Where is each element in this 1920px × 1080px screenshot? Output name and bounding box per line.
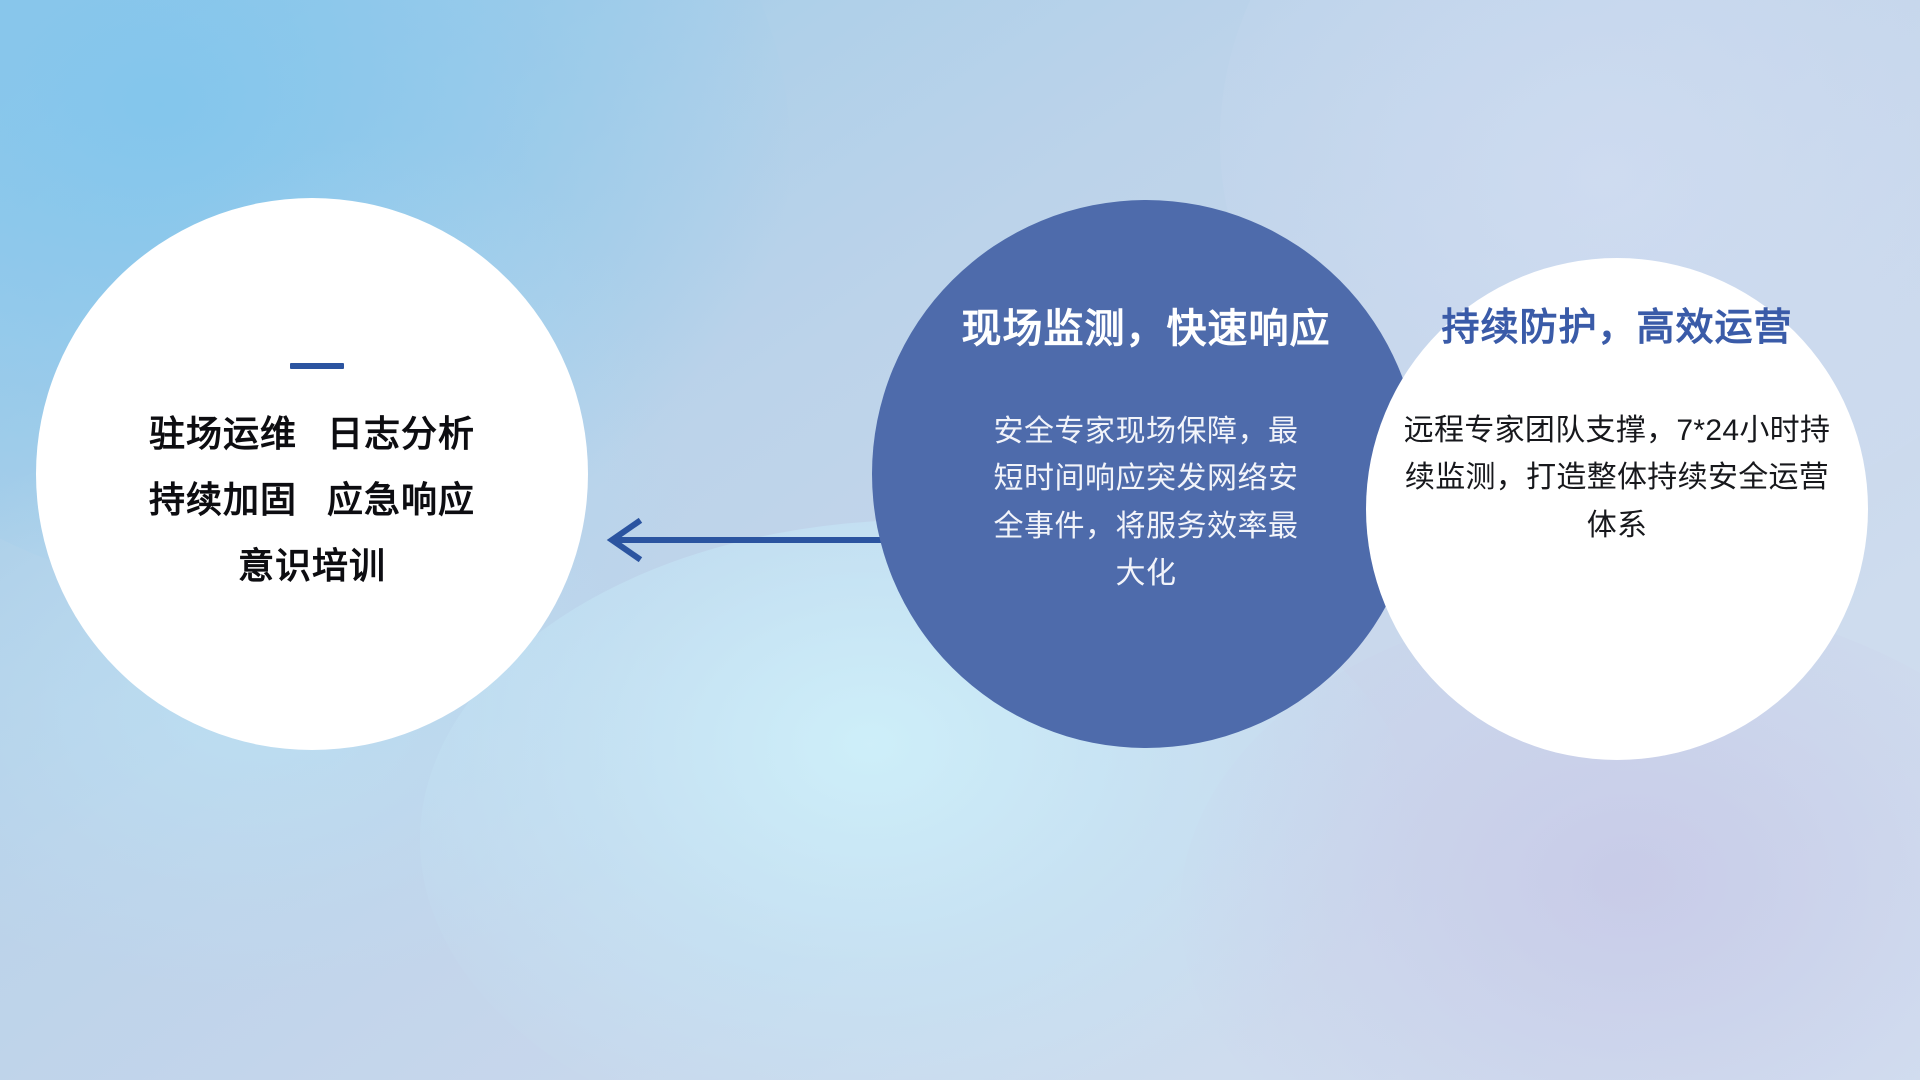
capability-row-1: 驻场运维日志分析 xyxy=(149,415,475,453)
blue-circle-title: 现场监测，快速响应 xyxy=(962,296,1331,354)
capability-list: 驻场运维日志分析 持续加固应急响应 意识培训 xyxy=(149,415,475,584)
capability-label-3a: 意识培训 xyxy=(238,545,386,586)
blue-circle-body: 安全专家现场保障，最短时间响应突发网络安全事件，将服务效率最大化 xyxy=(985,408,1307,598)
left-circle-content: 驻场运维日志分析 持续加固应急响应 意识培训 xyxy=(36,198,588,750)
capability-row-2: 持续加固应急响应 xyxy=(149,481,475,519)
accent-dash-divider xyxy=(290,363,344,369)
right-circle-title: 持续防护，高效运营 xyxy=(1441,296,1792,351)
capability-row-3: 意识培训 xyxy=(238,547,386,585)
capability-label-1a: 驻场运维 xyxy=(149,413,297,454)
right-circle-content: 持续防护，高效运营 远程专家团队支撑，7*24小时持续监测，打造整体持续安全运营… xyxy=(1366,258,1868,760)
capability-label-2b: 应急响应 xyxy=(327,479,475,520)
capability-label-1b: 日志分析 xyxy=(327,413,475,454)
right-circle-body: 远程专家团队支撑，7*24小时持续监测，打造整体持续安全运营体系 xyxy=(1397,407,1837,549)
slide-canvas: 驻场运维日志分析 持续加固应急响应 意识培训 现场监测，快速响应 安全专家现场保… xyxy=(0,0,1920,1080)
arrow-left-icon xyxy=(590,510,910,570)
capability-label-2a: 持续加固 xyxy=(149,479,297,520)
blue-circle-content: 现场监测，快速响应 安全专家现场保障，最短时间响应突发网络安全事件，将服务效率最… xyxy=(872,200,1420,748)
